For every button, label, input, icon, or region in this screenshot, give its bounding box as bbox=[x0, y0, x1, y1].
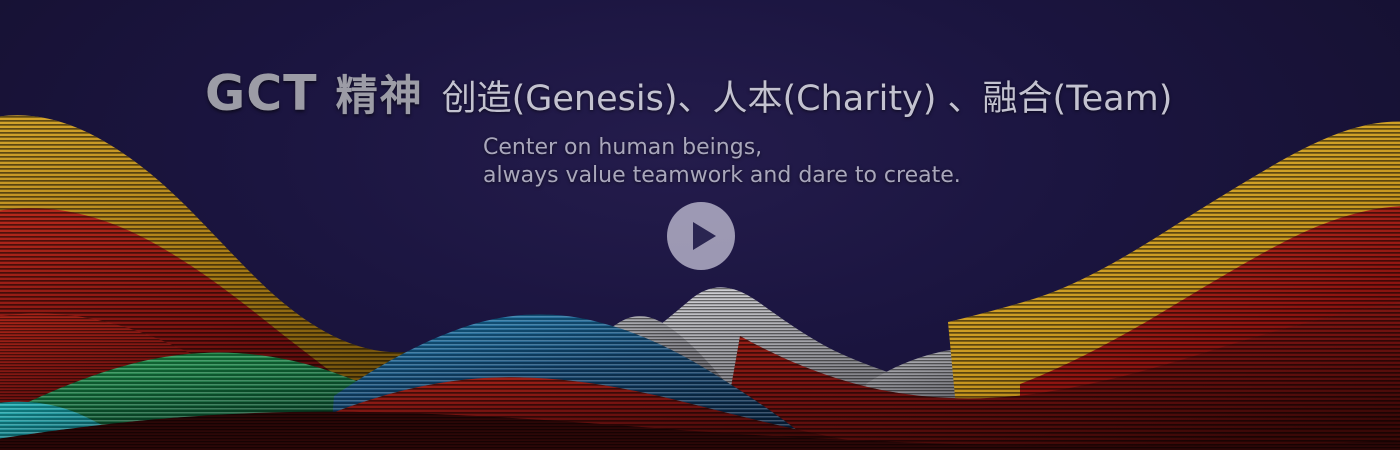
subtitle-block: Center on human beings, always value tea… bbox=[483, 134, 1215, 189]
play-icon bbox=[693, 222, 716, 250]
play-video-button[interactable] bbox=[667, 202, 735, 270]
headline-slogan: 创造(Genesis)、人本(Charity) 、融合(Team) bbox=[442, 70, 1173, 121]
brand-logo-latin: GCT bbox=[205, 69, 318, 118]
subtitle-line-2: always value teamwork and dare to create… bbox=[483, 162, 1215, 190]
headline-row: GCT 精神 创造(Genesis)、人本(Charity) 、融合(Team) bbox=[205, 62, 1215, 123]
brand-logo-chinese: 精神 bbox=[336, 62, 424, 123]
subtitle-line-1: Center on human beings, bbox=[483, 134, 1215, 162]
hero-banner: GCT 精神 创造(Genesis)、人本(Charity) 、融合(Team)… bbox=[0, 0, 1400, 450]
banner-text-block: GCT 精神 创造(Genesis)、人本(Charity) 、融合(Team)… bbox=[205, 62, 1215, 189]
